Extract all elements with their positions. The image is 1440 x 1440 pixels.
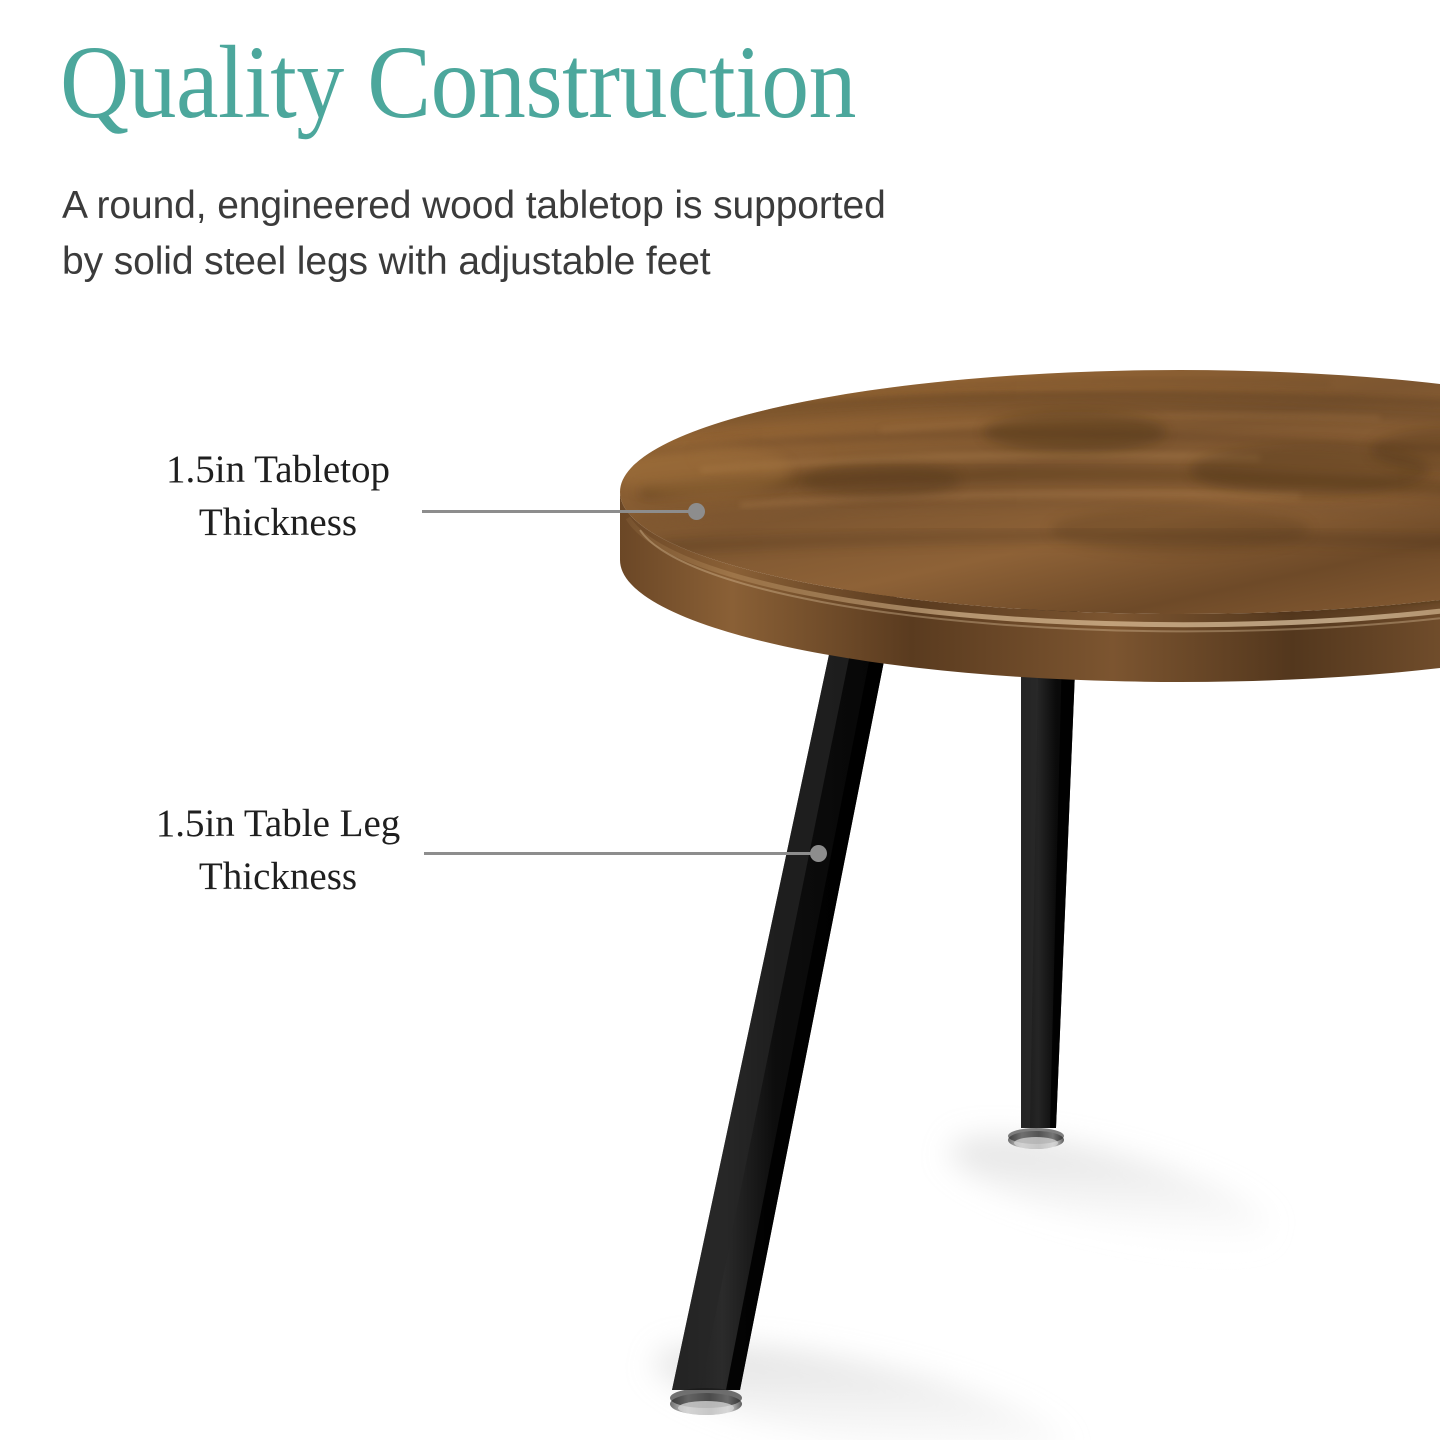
tabletop-edge — [620, 492, 1440, 682]
page-title: Quality Construction — [60, 28, 856, 138]
infographic-canvas: Quality Construction A round, engineered… — [0, 0, 1440, 1440]
callout-table-leg-thickness-line-1: 1.5in Table Leg — [60, 797, 496, 850]
callout-table-leg-thickness-leader-dot — [810, 845, 827, 862]
adjustable-foot-rear — [1008, 1128, 1064, 1149]
callout-tabletop-thickness-label: 1.5in Tabletop Thickness — [60, 443, 496, 549]
table-leg-rear — [1008, 575, 1079, 1149]
callout-tabletop-thickness-line-1: 1.5in Tabletop — [60, 443, 496, 496]
callout-tabletop-thickness-leader-line — [422, 510, 694, 513]
shadow-rear-leg — [941, 1115, 1279, 1265]
callout-table-leg-thickness-line-2: Thickness — [60, 850, 496, 903]
tabletop-surface — [620, 370, 1440, 614]
tabletop-wood-grain — [610, 382, 1440, 554]
page-subtitle-line-1: A round, engineered wood tabletop is sup… — [62, 178, 1182, 234]
tabletop — [610, 370, 1440, 682]
tabletop-rim-highlight-inner — [640, 530, 1440, 631]
table-legs — [670, 575, 1079, 1415]
tabletop-edge-grain — [640, 505, 1440, 605]
adjustable-foot-front — [670, 1388, 742, 1415]
floor-shadow-group — [646, 1115, 1279, 1440]
callout-tabletop-thickness-leader-dot — [688, 503, 705, 520]
tabletop-rim-highlight — [628, 518, 1440, 625]
callout-table-leg-thickness-leader-line — [424, 852, 816, 855]
callout-table-leg-thickness-label: 1.5in Table Leg Thickness — [60, 797, 496, 903]
callout-tabletop-thickness-line-2: Thickness — [60, 496, 496, 549]
page-subtitle-line-2: by solid steel legs with adjustable feet — [62, 234, 1182, 290]
page-subtitle: A round, engineered wood tabletop is sup… — [62, 178, 1182, 290]
table-leg-front — [670, 575, 901, 1415]
shadow-front-leg — [646, 1320, 1074, 1440]
